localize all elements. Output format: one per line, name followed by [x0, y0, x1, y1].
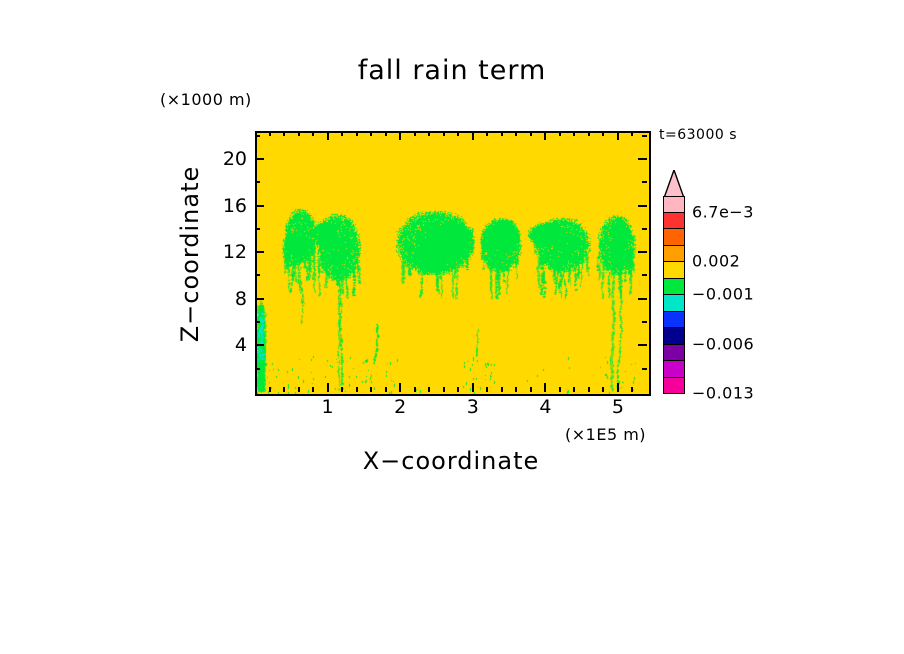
x-axis-tick: [341, 131, 343, 136]
y-axis-tick: [642, 368, 647, 370]
y-axis-tick: [255, 205, 264, 207]
x-axis-tick: [414, 131, 416, 136]
x-axis-tick: [298, 387, 300, 392]
x-axis-tick: [472, 383, 474, 392]
y-axis-tick-label: 8: [209, 288, 247, 310]
y-axis-tick: [255, 321, 260, 323]
y-axis-tick: [255, 298, 264, 300]
x-axis-tick: [530, 387, 532, 392]
x-axis-tick: [269, 387, 271, 392]
x-axis-tick: [501, 387, 503, 392]
x-axis-tick: [370, 387, 372, 392]
colorbar-band-pink-light: [663, 196, 685, 213]
x-axis-tick: [544, 131, 546, 140]
x-axis-tick: [486, 131, 488, 136]
y-axis-tick: [638, 205, 647, 207]
y-axis-tick: [255, 158, 264, 160]
x-axis-tick: [544, 383, 546, 392]
colorbar-tick-label: −0.013: [692, 384, 754, 403]
y-axis-tick: [642, 181, 647, 183]
x-axis-tick: [443, 131, 445, 136]
x-axis-tick: [457, 387, 459, 392]
x-axis-tick: [327, 131, 329, 140]
x-axis-tick: [486, 387, 488, 392]
x-axis-tick: [312, 131, 314, 136]
x-axis-tick: [356, 387, 358, 392]
x-axis-tick: [573, 131, 575, 136]
y-axis-tick: [642, 135, 647, 137]
colorbar-band-purple: [663, 345, 685, 362]
colorbar-band-magenta: [663, 361, 685, 378]
time-annotation: t=63000 s: [659, 127, 737, 143]
y-axis-tick: [638, 251, 647, 253]
x-axis-tick: [631, 387, 633, 392]
x-axis-tick: [269, 131, 271, 136]
x-axis-tick: [515, 387, 517, 392]
x-axis-tick: [501, 131, 503, 136]
x-axis-tick: [356, 131, 358, 136]
y-axis-tick-label: 4: [209, 334, 247, 356]
x-axis-tick-label: 3: [467, 396, 479, 418]
x-axis-tick: [631, 131, 633, 136]
y-axis-tick-label: 12: [209, 241, 247, 263]
x-axis-tick: [385, 387, 387, 392]
x-axis-tick: [472, 131, 474, 140]
x-axis-tick: [457, 131, 459, 136]
colorbar-band-navy: [663, 328, 685, 345]
x-axis-tick: [370, 131, 372, 136]
x-axis-tick: [312, 387, 314, 392]
colorbar-band-yellow: [663, 262, 685, 279]
colorbar-band-cyan: [663, 295, 685, 312]
x-axis-tick: [559, 387, 561, 392]
x-axis-tick: [515, 131, 517, 136]
x-axis-tick: [385, 131, 387, 136]
y-axis-tick-label: 16: [209, 195, 247, 217]
contour-field: [257, 133, 649, 394]
x-axis-tick: [602, 131, 604, 136]
x-axis-title: X−coordinate: [255, 447, 647, 475]
x-axis-tick: [428, 131, 430, 136]
y-axis-title: Z−coordinate: [176, 104, 204, 404]
x-axis-tick: [298, 131, 300, 136]
x-axis-tick: [341, 387, 343, 392]
x-axis-tick: [559, 131, 561, 136]
x-axis-tick: [283, 387, 285, 392]
colorbar-band-orange: [663, 246, 685, 263]
x-axis-tick: [588, 387, 590, 392]
x-axis-tick-label: 4: [539, 396, 551, 418]
colorbar-tick-label: 6.7e−3: [692, 202, 754, 221]
y-axis-tick: [255, 228, 260, 230]
x-axis-tick: [428, 387, 430, 392]
x-axis-tick-label: 1: [322, 396, 334, 418]
colorbar-tick-label: 0.002: [692, 252, 740, 271]
x-axis-tick: [283, 131, 285, 136]
colorbar-band-pink: [663, 378, 685, 395]
y-axis-tick: [255, 368, 260, 370]
y-axis-unit-label: (×1000 m): [160, 90, 252, 109]
x-axis-unit-label: (×1E5 m): [565, 425, 646, 444]
x-axis-tick: [588, 131, 590, 136]
y-axis-tick: [255, 344, 264, 346]
x-axis-tick: [399, 383, 401, 392]
colorbar-arrow-icon: [663, 170, 685, 198]
y-axis-tick: [638, 158, 647, 160]
y-axis-tick-label: 20: [209, 148, 247, 170]
colorbar-band-blue: [663, 312, 685, 329]
contour-plot-area: [255, 131, 651, 396]
x-axis-tick: [617, 383, 619, 392]
y-axis-tick: [642, 228, 647, 230]
colorbar-band-green: [663, 279, 685, 296]
y-axis-tick: [255, 251, 264, 253]
y-axis-tick: [255, 181, 260, 183]
y-axis-tick: [638, 298, 647, 300]
y-axis-tick: [642, 274, 647, 276]
x-axis-tick: [327, 383, 329, 392]
x-axis-tick: [573, 387, 575, 392]
colorbar-tick-label: −0.006: [692, 334, 754, 353]
y-axis-tick: [638, 344, 647, 346]
x-axis-tick: [530, 131, 532, 136]
y-axis-tick: [255, 274, 260, 276]
x-axis-tick: [414, 387, 416, 392]
x-axis-tick: [399, 131, 401, 140]
y-axis-tick: [642, 321, 647, 323]
colorbar-band-orange-red: [663, 229, 685, 246]
y-axis-tick: [255, 135, 260, 137]
x-axis-tick: [602, 387, 604, 392]
colorbar-tick-label: −0.001: [692, 285, 754, 304]
colorbar-band-red: [663, 213, 685, 230]
x-axis-tick-label: 5: [612, 396, 624, 418]
x-axis-tick-label: 2: [394, 396, 406, 418]
page-title: fall rain term: [0, 55, 904, 86]
x-axis-tick: [617, 131, 619, 140]
colorbar: [663, 196, 685, 394]
x-axis-tick: [443, 387, 445, 392]
